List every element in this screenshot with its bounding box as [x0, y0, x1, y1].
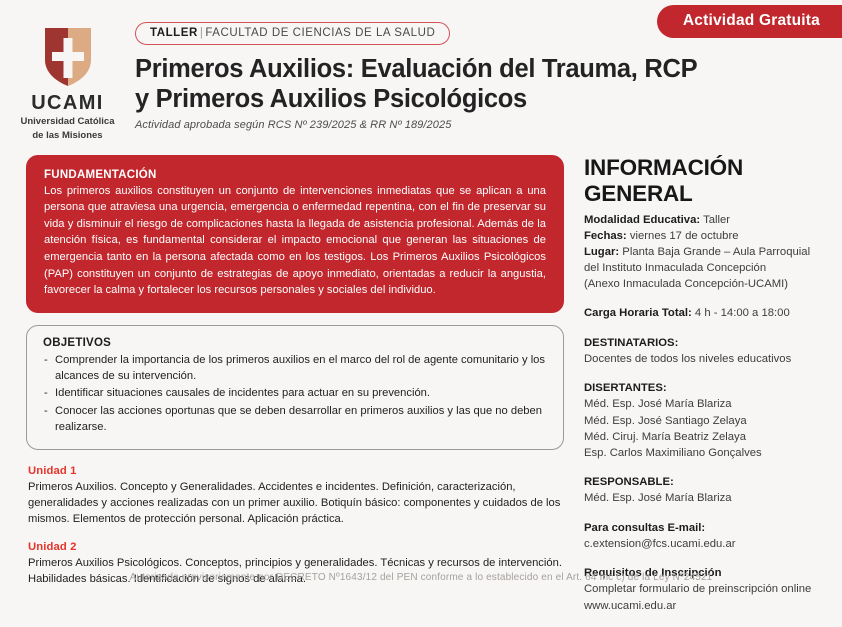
info-disertantes-block: DISERTANTES: Méd. Esp. José María Blariz…	[584, 380, 830, 461]
faculty-pill: TALLER|FACULTAD DE CIENCIAS DE LA SALUD	[135, 22, 450, 45]
list-item: Conocer las acciones oportunas que se de…	[43, 403, 545, 435]
unit-title: Unidad 1	[28, 465, 564, 477]
list-item: Comprender la importancia de los primero…	[43, 352, 545, 384]
shield-icon	[41, 26, 95, 88]
website-link[interactable]: www.ucami.edu.ar	[584, 598, 830, 614]
info-lugar-line2: del Instituto Inmaculada Concepción	[584, 260, 830, 276]
logo-wordmark: UCAMI	[0, 93, 135, 114]
logo-subtitle-line1: Universidad Católica	[0, 116, 135, 128]
info-fechas-label: Fechas:	[584, 230, 627, 242]
list-item: Esp. Carlos Maximiliano Gonçalves	[584, 445, 830, 461]
info-basics-block: Modalidad Educativa: Taller Fechas: vier…	[584, 212, 830, 293]
info-carga-value: 4 h - 14:00 a 18:00	[695, 307, 790, 319]
fundamentacion-text: Los primeros auxilios constituyen un con…	[44, 183, 546, 299]
objetivos-heading: OBJETIVOS	[43, 337, 545, 349]
info-lugar-label: Lugar:	[584, 246, 619, 258]
fundamentacion-card: FUNDAMENTACIÓN Los primeros auxilios con…	[26, 155, 564, 313]
legal-footer: Autorizada provisoriamente por DECRETO N…	[0, 572, 842, 583]
info-carga: Carga Horaria Total: 4 h - 14:00 a 18:00	[584, 305, 830, 321]
pill-faculty: FACULTAD DE CIENCIAS DE LA SALUD	[205, 27, 435, 39]
page-title: Primeros Auxilios: Evaluación del Trauma…	[135, 54, 832, 114]
email-value[interactable]: c.extension@fcs.ucami.edu.ar	[584, 536, 830, 552]
responsable-value: Méd. Esp. José María Blariza	[584, 490, 830, 506]
info-carga-label: Carga Horaria Total:	[584, 307, 692, 319]
page-title-line1: Primeros Auxilios: Evaluación del Trauma…	[135, 54, 832, 84]
disertantes-heading: DISERTANTES:	[584, 380, 830, 396]
objetivos-card: OBJETIVOS Comprender la importancia de l…	[26, 325, 564, 450]
approval-note: Actividad aprobada según RCS Nº 239/2025…	[135, 119, 832, 131]
list-item: Méd. Esp. José María Blariza	[584, 396, 830, 412]
list-item: Identificar situaciones causales de inci…	[43, 385, 545, 401]
info-modalidad-label: Modalidad Educativa:	[584, 214, 700, 226]
info-destinatarios-block: DESTINATARIOS: Docentes de todos los niv…	[584, 335, 830, 368]
list-item: Méd. Esp. José Santiago Zelaya	[584, 413, 830, 429]
info-lugar-line3: (Anexo Inmaculada Concepción-UCAMI)	[584, 276, 830, 292]
content-columns: FUNDAMENTACIÓN Los primeros auxilios con…	[0, 142, 842, 627]
list-item: Méd. Ciruj. María Beatriz Zelaya	[584, 429, 830, 445]
unit-title: Unidad 2	[28, 541, 564, 553]
info-fechas: Fechas: viernes 17 de octubre	[584, 228, 830, 244]
logo-subtitle-line2: de las Misiones	[0, 130, 135, 142]
info-general-title: INFORMACIÓN GENERAL	[584, 155, 830, 207]
email-heading: Para consultas E-mail:	[584, 520, 830, 536]
info-email-block: Para consultas E-mail: c.extension@fcs.u…	[584, 520, 830, 553]
requisitos-line1: Completar formulario de preinscripción o…	[584, 581, 830, 597]
fundamentacion-heading: FUNDAMENTACIÓN	[44, 169, 546, 181]
info-lugar-value: Planta Baja Grande – Aula Parroquial	[622, 246, 810, 258]
info-modalidad: Modalidad Educativa: Taller	[584, 212, 830, 228]
unit-block: Unidad 1 Primeros Auxilios. Concepto y G…	[28, 465, 564, 528]
page-title-line2: y Primeros Auxilios Psicológicos	[135, 84, 832, 114]
info-modalidad-value: Taller	[703, 214, 730, 226]
ucami-logo: UCAMI Universidad Católica de las Mision…	[0, 18, 135, 142]
info-carga-block: Carga Horaria Total: 4 h - 14:00 a 18:00	[584, 305, 830, 321]
free-activity-badge: Actividad Gratuita	[657, 5, 842, 38]
info-lugar: Lugar: Planta Baja Grande – Aula Parroqu…	[584, 244, 830, 260]
left-column: FUNDAMENTACIÓN Los primeros auxilios con…	[26, 155, 578, 600]
responsable-heading: RESPONSABLE:	[584, 474, 830, 490]
units-section: Unidad 1 Primeros Auxilios. Concepto y G…	[26, 465, 564, 587]
destinatarios-value: Docentes de todos los niveles educativos	[584, 351, 830, 367]
unit-body: Primeros Auxilios. Concepto y Generalida…	[28, 479, 564, 528]
destinatarios-heading: DESTINATARIOS:	[584, 335, 830, 351]
objetivos-list: Comprender la importancia de los primero…	[43, 352, 545, 435]
right-column: INFORMACIÓN GENERAL Modalidad Educativa:…	[578, 155, 830, 627]
info-responsable-block: RESPONSABLE: Méd. Esp. José María Blariz…	[584, 474, 830, 507]
pill-category: TALLER	[150, 27, 198, 39]
info-fechas-value: viernes 17 de octubre	[630, 230, 739, 242]
